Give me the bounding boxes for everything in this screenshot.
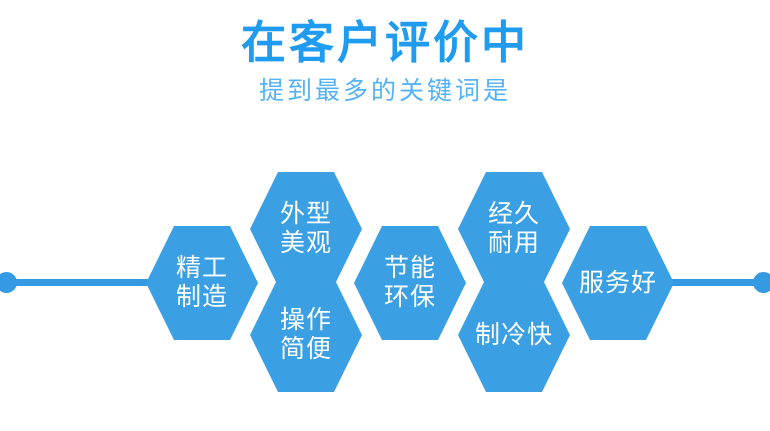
keyword-hex-waixing-meiguan[interactable]: 外型 美观 — [250, 172, 362, 286]
keyword-label: 节能 环保 — [384, 254, 436, 312]
keyword-label: 精工 制造 — [176, 254, 228, 312]
connector-dot-right — [753, 272, 770, 293]
keyword-hex-fuwu-hao[interactable]: 服务好 — [562, 226, 674, 340]
keyword-hex-caozuo-jianbian[interactable]: 操作 简便 — [250, 278, 362, 392]
keyword-label: 操作 简便 — [280, 306, 332, 364]
keyword-label: 外型 美观 — [280, 200, 332, 258]
keyword-hex-jinggong-zhizao[interactable]: 精工 制造 — [146, 226, 258, 340]
keyword-label: 服务好 — [579, 269, 657, 298]
keyword-hex-jingjiu-naiyong[interactable]: 经久 耐用 — [458, 172, 570, 286]
heading-block: 在客户评价中 提到最多的关键词是 — [0, 18, 770, 106]
connector-dot-left — [0, 272, 17, 293]
page-title: 在客户评价中 — [0, 18, 770, 68]
keyword-hex-zhileng-kuai[interactable]: 制冷快 — [458, 278, 570, 392]
keyword-hex-jieneng-huanbao[interactable]: 节能 环保 — [354, 226, 466, 340]
page-subtitle: 提到最多的关键词是 — [0, 77, 770, 106]
keyword-label: 经久 耐用 — [488, 200, 540, 258]
infographic-canvas: 在客户评价中 提到最多的关键词是 精工 制造 外型 美观 操作 简便 节能 环保… — [0, 0, 770, 431]
keyword-label: 制冷快 — [475, 321, 553, 350]
